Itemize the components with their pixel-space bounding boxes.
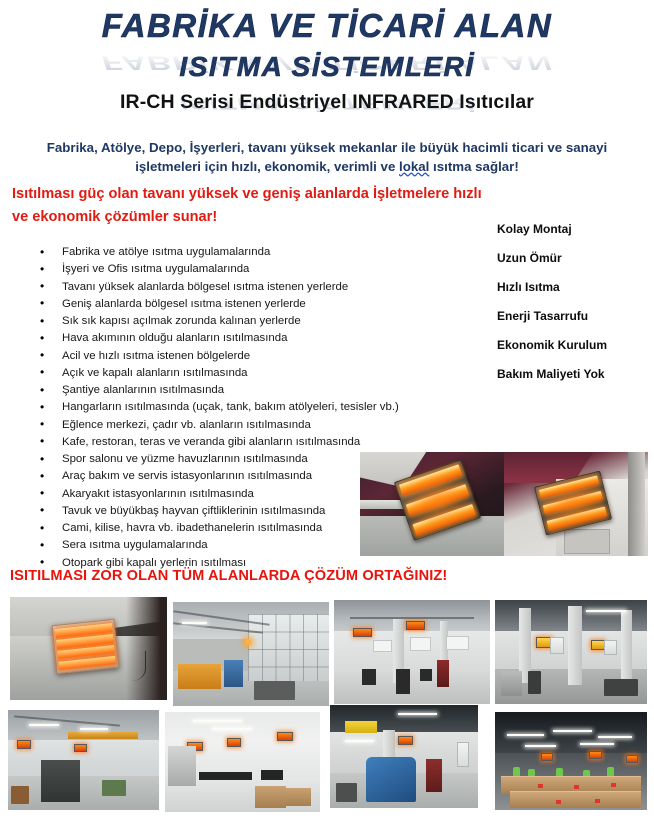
equipment-shape <box>11 786 29 804</box>
red-headline: Isıtılması güç olan tavanı yüksek ve gen… <box>12 183 482 229</box>
boxes-shape <box>510 791 641 808</box>
gallery-photo-heater-closeup-wall-mounted[interactable] <box>10 597 167 700</box>
product-photo-heater-pair <box>360 452 648 556</box>
infrared-heater-unit <box>626 755 639 763</box>
label-shape <box>611 783 616 787</box>
window-shape <box>604 640 617 656</box>
gallery-photo-industrial-hall-crane[interactable] <box>8 710 159 810</box>
light-shape <box>586 610 626 612</box>
window-shape <box>373 640 392 652</box>
light-shape <box>525 745 555 747</box>
light-shape <box>345 740 375 742</box>
equipment-shape <box>420 669 432 681</box>
floor-shape <box>8 776 159 810</box>
product-photo-left <box>360 452 504 556</box>
product-series-subtitle: IR-CH Serisi Endüstriyel INFRARED Isıtıc… <box>0 91 654 114</box>
list-item: Hangarların ısıtılmasında (uçak, tank, b… <box>36 399 456 416</box>
gallery-photo-warehouse-columns-heaters[interactable] <box>495 600 647 704</box>
window-shape <box>550 637 564 654</box>
page-header: FABRİKA VE TİCARİ ALAN FABRİKA VE TİCARİ… <box>0 0 654 114</box>
photo-scene <box>330 705 478 808</box>
equipment-shape <box>41 760 80 802</box>
gallery-photo-clean-production-room[interactable] <box>165 712 320 812</box>
column-shape <box>568 606 582 685</box>
gallery-photo-factory-hall-windows-machinery[interactable] <box>173 602 329 706</box>
machine-shape <box>168 746 196 786</box>
carton-shape <box>255 786 286 808</box>
equipment-shape <box>362 669 376 686</box>
title-wrap: FABRİKA VE TİCARİ ALAN FABRİKA VE TİCARİ… <box>0 0 654 81</box>
light-shape <box>398 713 436 715</box>
infrared-heater-unit <box>353 628 372 637</box>
window-shape <box>457 742 469 767</box>
infrared-heater-unit <box>277 732 293 741</box>
list-item: Tavanı yüksek alanlarda bölgesel ısıtma … <box>36 279 456 296</box>
photo-scene <box>10 597 167 700</box>
photo-scene <box>173 602 329 706</box>
list-item: Şantiye alanlarının ısıtılmasında <box>36 382 456 399</box>
intro-description-line-1: Fabrika, Atölye, Depo, İşyerleri, tavanı… <box>14 139 640 158</box>
machine-shape <box>366 757 416 802</box>
list-item: Açık ve kapalı alanların ısıtılmasında <box>36 365 456 382</box>
light-shape <box>598 736 631 738</box>
photo-scene <box>8 710 159 810</box>
label-shape <box>538 784 543 788</box>
sign-shape <box>345 721 378 732</box>
list-item: Fabrika ve atölye ısıtma uygulamalarında <box>36 244 456 261</box>
column-shape <box>621 610 632 683</box>
feature-list: Kolay Montaj Uzun Ömür Hızlı Isıtma Ener… <box>497 219 647 393</box>
equipment-shape <box>396 669 410 694</box>
door-frame-shape <box>628 452 645 556</box>
feature-item-kolay-montaj: Kolay Montaj <box>497 219 647 248</box>
infrared-heater-unit <box>17 740 31 749</box>
intro-line2-part-a: işletmeleri için hızlı, ekonomik, veriml… <box>135 159 399 174</box>
list-item: Kafe, restoran, teras ve veranda gibi al… <box>36 434 456 451</box>
shadow-shape <box>126 597 167 700</box>
equipment-shape <box>336 783 357 802</box>
window-shape <box>446 636 468 649</box>
baseboard-shape <box>261 770 283 780</box>
product-photo-right <box>504 452 648 556</box>
infrared-heater-unit <box>74 744 87 752</box>
photo-scene <box>495 600 647 704</box>
light-shape <box>507 734 543 736</box>
intro-description-line-2: işletmeleri için hızlı, ekonomik, veriml… <box>14 158 640 177</box>
feature-item-uzun-omur: Uzun Ömür <box>497 248 647 277</box>
photo-scene <box>495 712 647 810</box>
feature-item-ekonomik-kurulum: Ekonomik Kurulum <box>497 335 647 364</box>
spellcheck-word-lokal: lokal <box>399 159 429 174</box>
light-shape <box>29 724 59 726</box>
gallery-photo-workshop-blue-machine[interactable] <box>330 705 478 808</box>
list-item: Eğlence merkezi, çadır vb. alanların ısı… <box>36 417 456 434</box>
list-item: Sık sık kapısı açılmak zorunda kalınan y… <box>36 313 456 330</box>
page-title-line-2: ISITMA SİSTEMLERİ <box>0 42 654 81</box>
photo-scene <box>334 600 490 704</box>
floor-shape <box>334 669 490 704</box>
intro-description: Fabrika, Atölye, Depo, İşyerleri, tavanı… <box>14 139 640 177</box>
intro-line2-part-b: ısıtma sağlar! <box>429 159 518 174</box>
equipment-shape <box>102 780 126 796</box>
rack-shape <box>437 660 449 687</box>
infrared-heater-unit <box>398 736 413 745</box>
photo-scene <box>165 712 320 812</box>
infrared-heater-unit <box>591 640 605 650</box>
list-item: Geniş alanlarda bölgesel ısıtma istenen … <box>36 296 456 313</box>
beam-shape <box>350 617 475 619</box>
list-item: Acil ve hızlı ısıtma istenen bölgelerde <box>36 348 456 365</box>
machine-shape <box>224 660 243 687</box>
light-shape <box>193 720 243 722</box>
label-shape <box>556 800 561 804</box>
feature-item-hizli-isitma: Hızlı Isıtma <box>497 277 647 306</box>
label-shape <box>574 785 579 789</box>
feature-item-bakim-maliyeti-yok: Bakım Maliyeti Yok <box>497 364 647 393</box>
pallet-shape <box>501 671 522 696</box>
machine-shape <box>178 664 222 689</box>
infrared-heater-unit <box>52 619 119 675</box>
machine-shape <box>254 681 295 700</box>
light-shape <box>212 728 252 730</box>
door-shape <box>426 759 442 792</box>
crane-shape <box>68 732 137 739</box>
gallery-photo-showroom-with-infrared-heaters[interactable] <box>334 600 490 704</box>
cable-shape <box>110 651 146 682</box>
feature-item-enerji-tasarrufu: Enerji Tasarrufu <box>497 306 647 335</box>
list-item: Hava akımının olduğu alanların ısıtılmas… <box>36 330 456 347</box>
infrared-heater-unit <box>589 751 602 759</box>
light-shape <box>553 730 593 732</box>
list-item: İşyeri ve Ofis ısıtma uygulamalarında <box>36 261 456 278</box>
equipment-shape <box>604 679 637 696</box>
window-shape <box>410 637 431 650</box>
page-title-line-1: FABRİKA VE TİCARİ ALAN <box>0 0 654 42</box>
infrared-heater-unit <box>541 753 554 761</box>
carton-shape <box>286 788 311 806</box>
vent-shape <box>564 529 609 554</box>
infrared-heater-unit <box>227 738 241 747</box>
closing-banner: ISITILMASI ZOR OLAN TÜM ALANLARDA ÇÖZÜM … <box>10 568 447 584</box>
infrared-heater-unit <box>406 621 425 630</box>
baseboard-shape <box>199 772 252 780</box>
label-shape <box>595 799 600 803</box>
equipment-shape <box>528 671 540 694</box>
gallery-photo-logistics-warehouse-workers[interactable] <box>495 712 647 810</box>
light-shape <box>580 743 613 745</box>
light-shape <box>80 728 107 730</box>
light-shape <box>182 622 207 624</box>
